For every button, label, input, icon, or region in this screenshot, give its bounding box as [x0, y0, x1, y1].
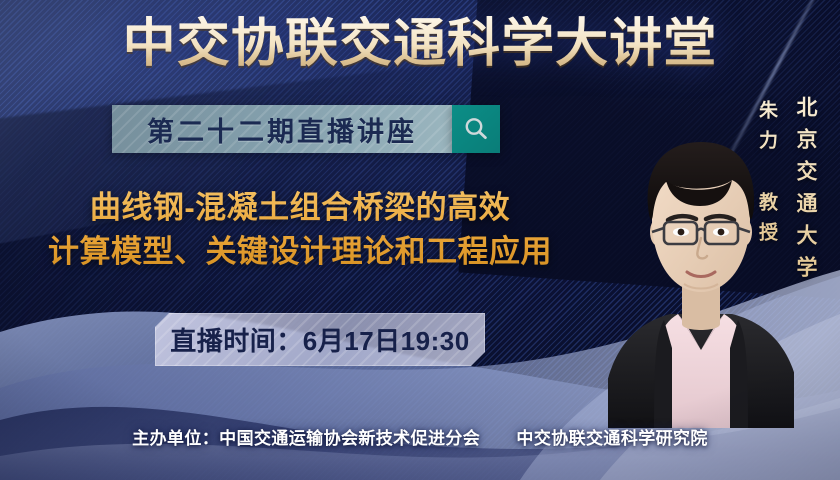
episode-bar: 第二十二期直播讲座 [112, 105, 452, 153]
episode-label: 第二十二期直播讲座 [147, 110, 417, 149]
speaker-affiliation: 北京交通大学 [790, 96, 820, 288]
lecture-title: 曲线钢-混凝土组合桥梁的高效 计算模型、关键设计理论和工程应用 [10, 186, 590, 274]
live-time-badge: 直播时间：6月17日19:30 [155, 313, 485, 366]
footer-organizers: 主办单位：中国交通运输协会新技术促进分会 中交协联交通科学研究院 [0, 424, 840, 449]
lecture-title-line-1: 曲线钢-混凝土组合桥梁的高效 [10, 186, 590, 230]
live-lecture-poster: 中交协联交通科学大讲堂 第二十二期直播讲座 曲线钢-混凝土组合桥梁的高效 计算模… [0, 0, 840, 480]
lecture-title-line-2: 计算模型、关键设计理论和工程应用 [10, 230, 590, 274]
footer-organizer-secondary: 中交协联交通科学研究院 [516, 429, 707, 448]
page-title: 中交协联交通科学大讲堂 [0, 16, 840, 72]
search-icon [462, 115, 490, 143]
search-button[interactable] [452, 105, 500, 153]
live-time-label: 直播时间：6月17日19:30 [170, 321, 469, 358]
speaker-name-title: 朱力 教授 [753, 100, 780, 252]
poster-content: 中交协联交通科学大讲堂 第二十二期直播讲座 曲线钢-混凝土组合桥梁的高效 计算模… [0, 0, 840, 480]
footer-organizer-primary: 主办单位：中国交通运输协会新技术促进分会 [132, 429, 480, 448]
